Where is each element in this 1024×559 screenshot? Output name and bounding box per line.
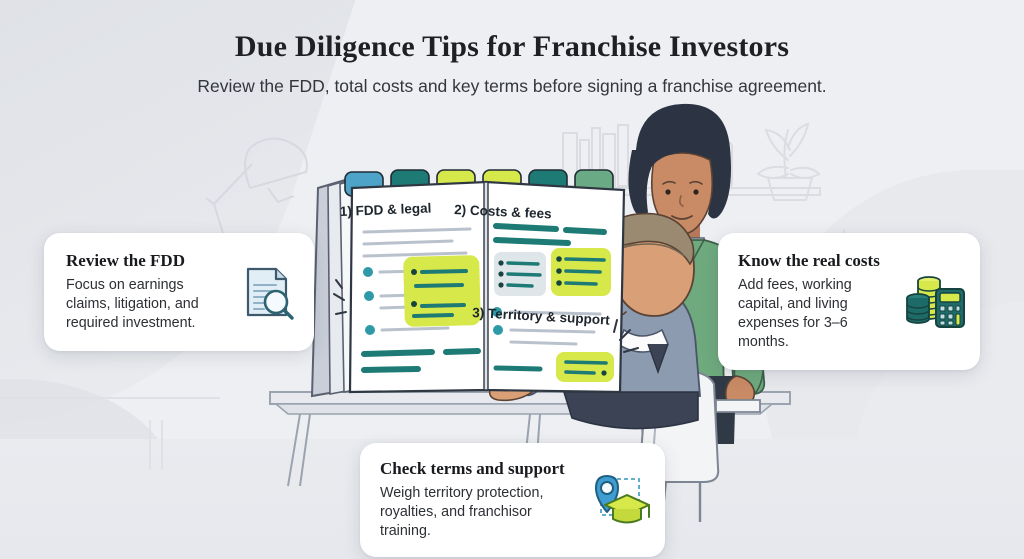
card-title: Know the real costs: [738, 251, 892, 271]
card-title: Check terms and support: [380, 459, 575, 479]
card-body: Add fees, working capital, and living ex…: [738, 276, 892, 352]
card-text-block: Know the real costs Add fees, working ca…: [738, 251, 892, 352]
page-title: Due Diligence Tips for Franchise Investo…: [0, 30, 1024, 64]
card-title: Review the FDD: [66, 251, 224, 271]
coins-calculator-icon: [904, 271, 966, 333]
card-text-block: Review the FDD Focus on earnings claims,…: [66, 251, 224, 333]
card-body: Focus on earnings claims, litigation, an…: [66, 276, 224, 333]
card-review-the-fdd[interactable]: Review the FDD Focus on earnings claims,…: [44, 233, 314, 351]
document-magnifier-icon: [236, 261, 298, 323]
map-pin-graduation-cap-icon: [587, 473, 651, 527]
card-body: Weigh territory protection, royalties, a…: [380, 484, 575, 541]
card-text-block: Check terms and support Weigh territory …: [380, 459, 575, 541]
page-subtitle: Review the FDD, total costs and key term…: [0, 76, 1024, 97]
card-know-the-real-costs[interactable]: Know the real costs Add fees, working ca…: [718, 233, 980, 370]
card-check-terms-and-support[interactable]: Check terms and support Weigh territory …: [360, 443, 665, 557]
infographic-canvas: Due Diligence Tips for Franchise Investo…: [0, 0, 1024, 559]
header: Due Diligence Tips for Franchise Investo…: [0, 30, 1024, 97]
